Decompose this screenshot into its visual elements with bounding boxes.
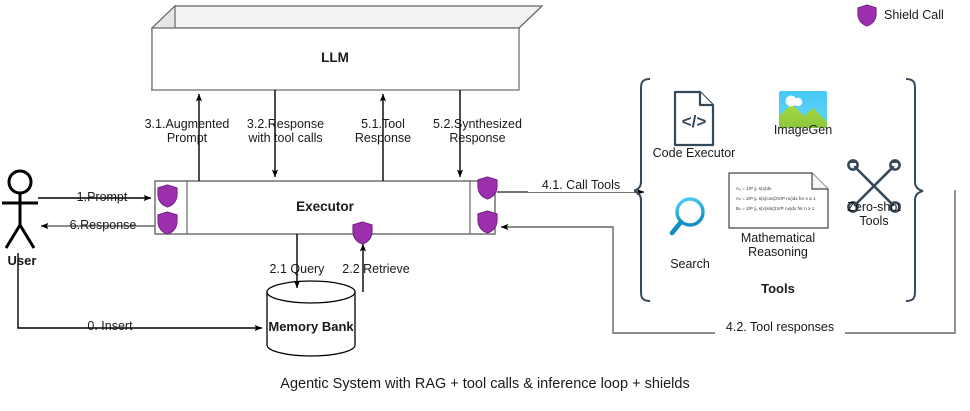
llm-top-face — [152, 6, 542, 28]
edge-label-response: 6.Response — [60, 218, 146, 232]
edge-label-query: 2.1 Query — [256, 262, 338, 276]
edge-label-tool-responses: 4.2. Tool responses — [715, 320, 845, 334]
llm-node[interactable] — [152, 6, 542, 90]
svg-text:Bₙ = 2/P ∫ₚ s(x)sin(2π/P nx)dx: Bₙ = 2/P ∫ₚ s(x)sin(2π/P nx)dx for n ≥ 1 — [736, 206, 815, 211]
formula-document-icon[interactable]: A₀ = 1/P ∫ₚ s(x)dx Aₙ = 2/P ∫ₚ s(x)cos(2… — [729, 173, 828, 228]
diagram-caption: Agentic System with RAG + tool calls & i… — [0, 377, 970, 391]
svg-text:</>: </> — [682, 112, 707, 131]
llm-label: LLM — [275, 51, 395, 65]
memory-bank-top — [267, 281, 355, 303]
magnifier-icon[interactable] — [672, 199, 703, 233]
tools-bracket-left — [633, 79, 650, 301]
user-leg-left — [6, 225, 20, 248]
tool-label-zero-shot-tools: Zero-shot Tools — [836, 200, 912, 228]
edge-label-response-tool-calls: 3.2.Response with tool calls — [233, 117, 338, 145]
legend-shield-label: Shield Call — [884, 8, 970, 22]
edge-label-retrieve: 2.2 Retrieve — [330, 262, 422, 276]
user-head — [9, 171, 31, 193]
shield-legend — [858, 5, 876, 26]
edge-label-augmented-prompt: 3.1.Augmented Prompt — [139, 117, 235, 145]
executor-label: Executor — [265, 200, 385, 214]
svg-text:A₀ = 1/P ∫ₚ s(x)dx: A₀ = 1/P ∫ₚ s(x)dx — [736, 186, 772, 191]
user-node[interactable] — [2, 171, 38, 248]
code-document-icon[interactable]: </> — [675, 92, 713, 145]
edge-label-prompt: 1.Prompt — [62, 190, 142, 204]
tools-bracket-right — [906, 79, 923, 301]
edge-label-synthesized-response: 5.2.Synthesized Response — [425, 117, 530, 145]
shield-executor-memory[interactable] — [353, 222, 372, 244]
edge-insert — [18, 253, 262, 328]
user-leg-right — [20, 225, 34, 248]
edge-label-call-tools: 4.1. Call Tools — [528, 178, 634, 192]
tools-group-label: Tools — [725, 282, 831, 296]
tool-label-imagegen: ImageGen — [762, 123, 844, 137]
memory-bank-label: Memory Bank — [251, 320, 371, 334]
diagram-canvas: </> A₀ = 1/P ∫ₚ s(x)dx Aₙ = 2/P ∫ₚ s(x)c… — [0, 0, 970, 411]
tool-label-mathematical-reasoning: Mathematical Reasoning — [726, 231, 830, 259]
tool-label-code-executor: Code Executor — [645, 146, 743, 160]
tool-label-search: Search — [657, 257, 723, 271]
user-label: User — [0, 254, 44, 268]
edge-label-tool-response: 5.1.Tool Response — [345, 117, 421, 145]
edge-label-insert: 0. Insert — [65, 319, 155, 333]
svg-text:Aₙ = 2/P ∫ₚ s(x)cos(2π/P nx)dx: Aₙ = 2/P ∫ₚ s(x)cos(2π/P nx)dx for n ≥ 1 — [736, 196, 816, 201]
